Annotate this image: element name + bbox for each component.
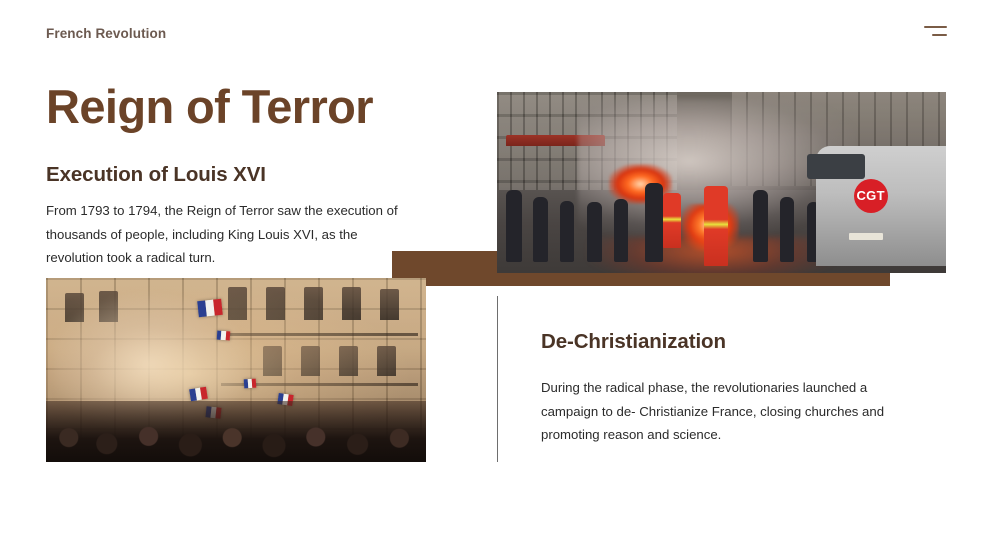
protest-person <box>614 199 628 262</box>
photo-crowd-flags <box>46 278 426 462</box>
hamburger-menu-icon[interactable] <box>923 26 947 42</box>
french-flag <box>197 299 223 317</box>
french-flag <box>243 379 256 389</box>
protest-person <box>780 197 794 262</box>
vertical-divider <box>497 296 498 462</box>
page-title: Reign of Terror <box>46 79 373 135</box>
protest-van-window <box>807 154 865 179</box>
french-flag <box>217 331 231 341</box>
section-heading-execution: Execution of Louis XVI <box>46 161 266 188</box>
section-body-dechristianization: During the radical phase, the revolution… <box>541 376 919 447</box>
section-heading-dechristianization: De-Christianization <box>541 328 726 355</box>
protest-hiviz-figure <box>663 193 681 247</box>
protest-person <box>506 190 522 262</box>
hamburger-bar-bottom <box>932 34 947 36</box>
slide-reign-of-terror: French Revolution Reign of Terror Execut… <box>0 0 993 558</box>
protest-cgt-logo: CGT <box>854 179 888 213</box>
protest-person <box>560 201 574 263</box>
section-body-execution: From 1793 to 1794, the Reign of Terror s… <box>46 199 398 270</box>
protest-van-plate <box>849 233 883 240</box>
protest-person <box>587 202 602 262</box>
protest-hiviz-figure <box>704 186 728 266</box>
photo-crowd-scene <box>46 278 426 462</box>
photo-protest-flares: CGT <box>497 92 946 273</box>
breadcrumb-topic-label: French Revolution <box>46 26 166 41</box>
hamburger-bar-top <box>924 26 947 28</box>
crowd-silhouettes <box>46 401 426 462</box>
photo-protest-scene: CGT <box>497 92 946 273</box>
protest-person <box>753 190 768 262</box>
protest-person <box>645 183 663 263</box>
protest-person <box>533 197 548 262</box>
